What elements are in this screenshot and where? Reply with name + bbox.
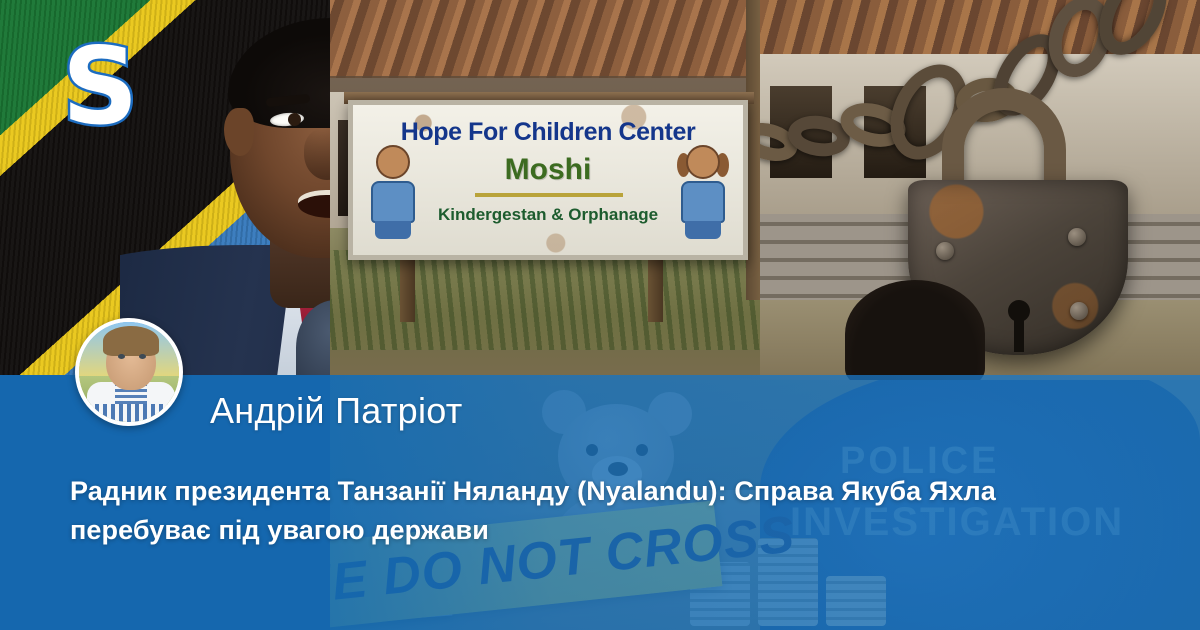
sign-line-1: Hope For Children Center [353,118,743,147]
brand-logo[interactable]: S [62,34,138,140]
cartoon-boy-icon [365,145,421,241]
author-name[interactable]: Андрій Патріот [210,390,463,432]
keyhole-icon [1008,300,1030,322]
avatar[interactable] [75,318,183,426]
cartoon-girl-icon [675,145,731,241]
social-share-card: Hope For Children Center Moshi Kinderges… [0,0,1200,630]
orphanage-sign-photo: Hope For Children Center Moshi Kinderges… [330,0,810,380]
boy-silhouette [845,280,985,388]
orphanage-signboard: Hope For Children Center Moshi Kinderges… [348,100,748,260]
headline[interactable]: Радник президента Танзанії Няланду (Nyal… [70,472,1070,551]
